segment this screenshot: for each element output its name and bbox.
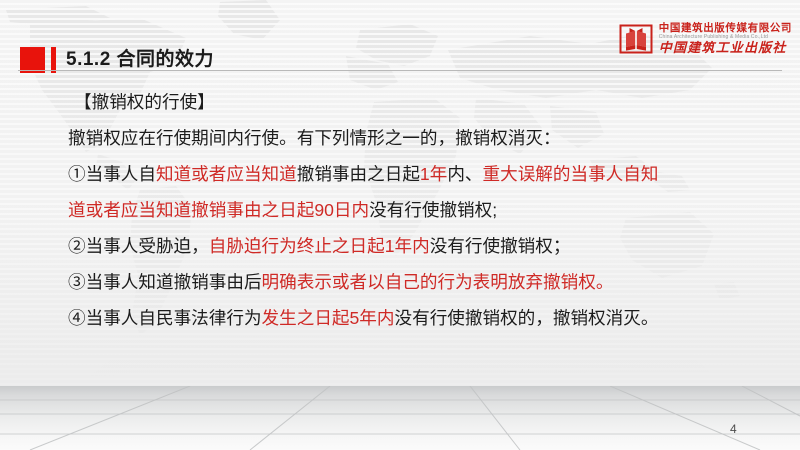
slide-body: 【撤销权的行使】 撤销权应在行使期间内行使。有下列情形之一的，撤销权消灭：①当事… — [68, 84, 782, 336]
text-run-red: 道或者应当知道撤销事由之日起90日内 — [68, 200, 369, 220]
slide: 5.1.2 合同的效力 中国建筑出版传媒有限公司 China Architect… — [0, 0, 800, 450]
text-run-black: 没有行使撤销权; — [369, 200, 497, 220]
text-run-red: 明确表示或者以自己的行为表明放弃撤销权。 — [262, 272, 614, 292]
text-run-red: 自胁迫行为终止之日起1年内 — [209, 236, 430, 256]
text-run-black: ④当事人自民事法律行为 — [68, 308, 262, 328]
text-run-black: ①当事人自 — [68, 164, 156, 184]
line-intro: 撤销权应在行使期间内行使。有下列情形之一的，撤销权消灭： — [68, 120, 782, 156]
header-divider — [18, 70, 782, 71]
line-item2: ②当事人受胁迫，自胁迫行为终止之日起1年内没有行使撤销权； — [68, 228, 782, 264]
open-book-icon — [619, 22, 653, 56]
line-item1-a: ①当事人自知道或者应当知道撤销事由之日起1年内、重大误解的当事人自知 — [68, 156, 782, 192]
text-run-black: 撤销事由之日起 — [297, 164, 420, 184]
text-run-red: 重大误解的当事人自知 — [483, 164, 659, 184]
line-item3: ③当事人知道撤销事由后明确表示或者以自己的行为表明放弃撤销权。 — [68, 264, 782, 300]
content-lines: 撤销权应在行使期间内行使。有下列情形之一的，撤销权消灭：①当事人自知道或者应当知… — [68, 120, 782, 336]
line-item4: ④当事人自民事法律行为发生之日起5年内没有行使撤销权的，撤销权消灭。 — [68, 300, 782, 336]
content-heading: 【撤销权的行使】 — [74, 84, 782, 120]
perspective-floor — [0, 386, 800, 450]
publisher-imprint-cn: 中国建筑工业出版社 — [659, 41, 792, 56]
text-run-red: 发生之日起5年内 — [262, 308, 395, 328]
text-run-black: 撤销权应在行使期间内行使。有下列情形之一的，撤销权消灭： — [68, 128, 561, 148]
text-run-black: ②当事人受胁迫， — [68, 236, 209, 256]
text-run-red: 知道或者应当知道 — [156, 164, 297, 184]
publisher-company-en: China Architecture Publishing & Media Co… — [659, 34, 792, 41]
text-run-black: 没有行使撤销权； — [430, 236, 571, 256]
publisher-logo: 中国建筑出版传媒有限公司 China Architecture Publishi… — [619, 22, 792, 56]
text-run-black: 没有行使撤销权的，撤销权消灭。 — [395, 308, 659, 328]
publisher-logo-text: 中国建筑出版传媒有限公司 China Architecture Publishi… — [659, 22, 792, 56]
text-run-black: 内、 — [447, 164, 482, 184]
text-run-red: 1年 — [420, 164, 447, 184]
line-item1-b: 道或者应当知道撤销事由之日起90日内没有行使撤销权; — [68, 192, 782, 228]
publisher-company-cn: 中国建筑出版传媒有限公司 — [659, 22, 792, 34]
text-run-black: ③当事人知道撤销事由后 — [68, 272, 262, 292]
page-number: 4 — [730, 422, 737, 436]
